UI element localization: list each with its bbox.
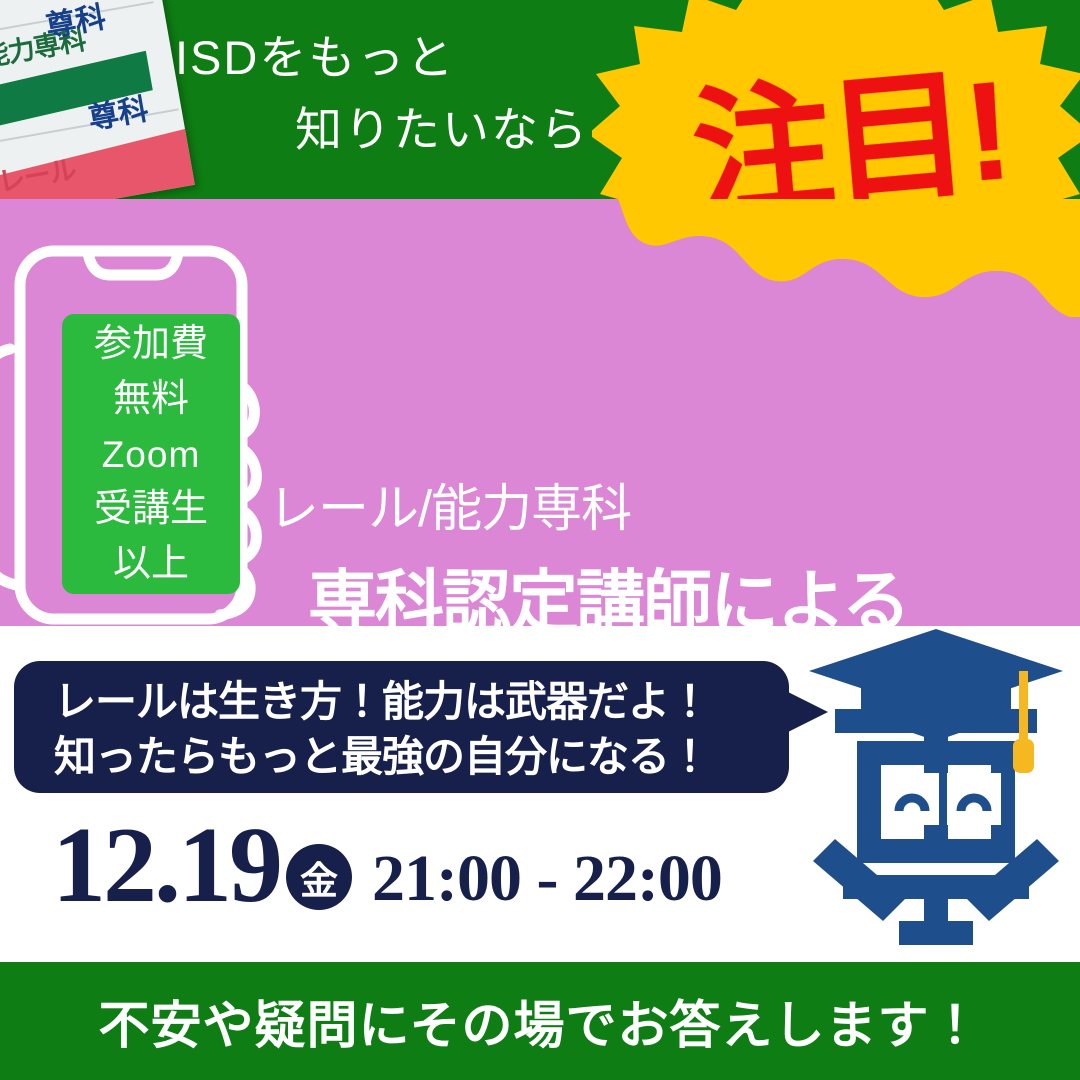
badge-line-3: Zoom bbox=[102, 427, 201, 482]
footer-text: 不安や疑問にその場でお答えします！ bbox=[99, 984, 982, 1058]
free-zoom-badge: 参加費 無料 Zoom 受講生 以上 bbox=[62, 314, 240, 594]
starburst-icon: 注目! bbox=[592, 0, 1080, 199]
event-time: 21:00 - 22:00 bbox=[372, 846, 722, 912]
footer-band: 不安や疑問にその場でお答えします！ bbox=[0, 962, 1080, 1080]
card-logo-mark-top: 尊科 bbox=[42, 0, 109, 46]
header-band: ISDをもっと 知りたいなら 能力専科 尊科 レール 尊科 注目! bbox=[0, 0, 1080, 199]
event-date: 12.19 bbox=[52, 818, 280, 914]
event-datetime: 12.19 金 21:00 - 22:00 bbox=[52, 818, 722, 914]
speech-bubble-line-1: レールは生き方！能力は武器だよ！ bbox=[54, 674, 710, 729]
badge-line-4: 受講生 bbox=[94, 482, 208, 537]
badge-line-2: 無料 bbox=[113, 372, 189, 427]
card-base: 能力専科 尊科 レール 尊科 bbox=[0, 0, 195, 199]
speech-bubble-line-2: 知ったらもっと最強の自分になる！ bbox=[54, 729, 710, 784]
badge-line-1: 参加費 bbox=[94, 317, 208, 372]
badge-line-5: 以上 bbox=[113, 537, 189, 592]
starburst-label: 注目! bbox=[587, 0, 1080, 199]
card-logo-mark-bottom: 尊科 bbox=[84, 84, 151, 138]
speech-bubble: レールは生き方！能力は武器だよ！ 知ったらもっと最強の自分になる！ bbox=[14, 661, 789, 793]
weekday-badge: 金 bbox=[286, 844, 352, 910]
title-kicker: レール/能力専科 bbox=[268, 467, 631, 541]
title-subheading: 専科認定講師による bbox=[308, 546, 909, 626]
graduation-cap-son-mascot-icon bbox=[795, 626, 1077, 953]
details-band: レールは生き方！能力は武器だよ！ 知ったらもっと最強の自分になる！ 12.19 … bbox=[0, 626, 1080, 962]
main-purple-band: 参加費 無料 Zoom 受講生 以上 レール/能力専科 専科認定講師による 超!… bbox=[0, 199, 1080, 626]
tilted-cards-illustration: 能力専科 尊科 レール 尊科 bbox=[0, 0, 221, 199]
flyer-canvas: ISDをもっと 知りたいなら 能力専科 尊科 レール 尊科 注目! bbox=[0, 0, 1080, 1080]
speech-bubble-text: レールは生き方！能力は武器だよ！ 知ったらもっと最強の自分になる！ bbox=[54, 674, 710, 784]
cloud-scallop-edge bbox=[570, 199, 1080, 317]
